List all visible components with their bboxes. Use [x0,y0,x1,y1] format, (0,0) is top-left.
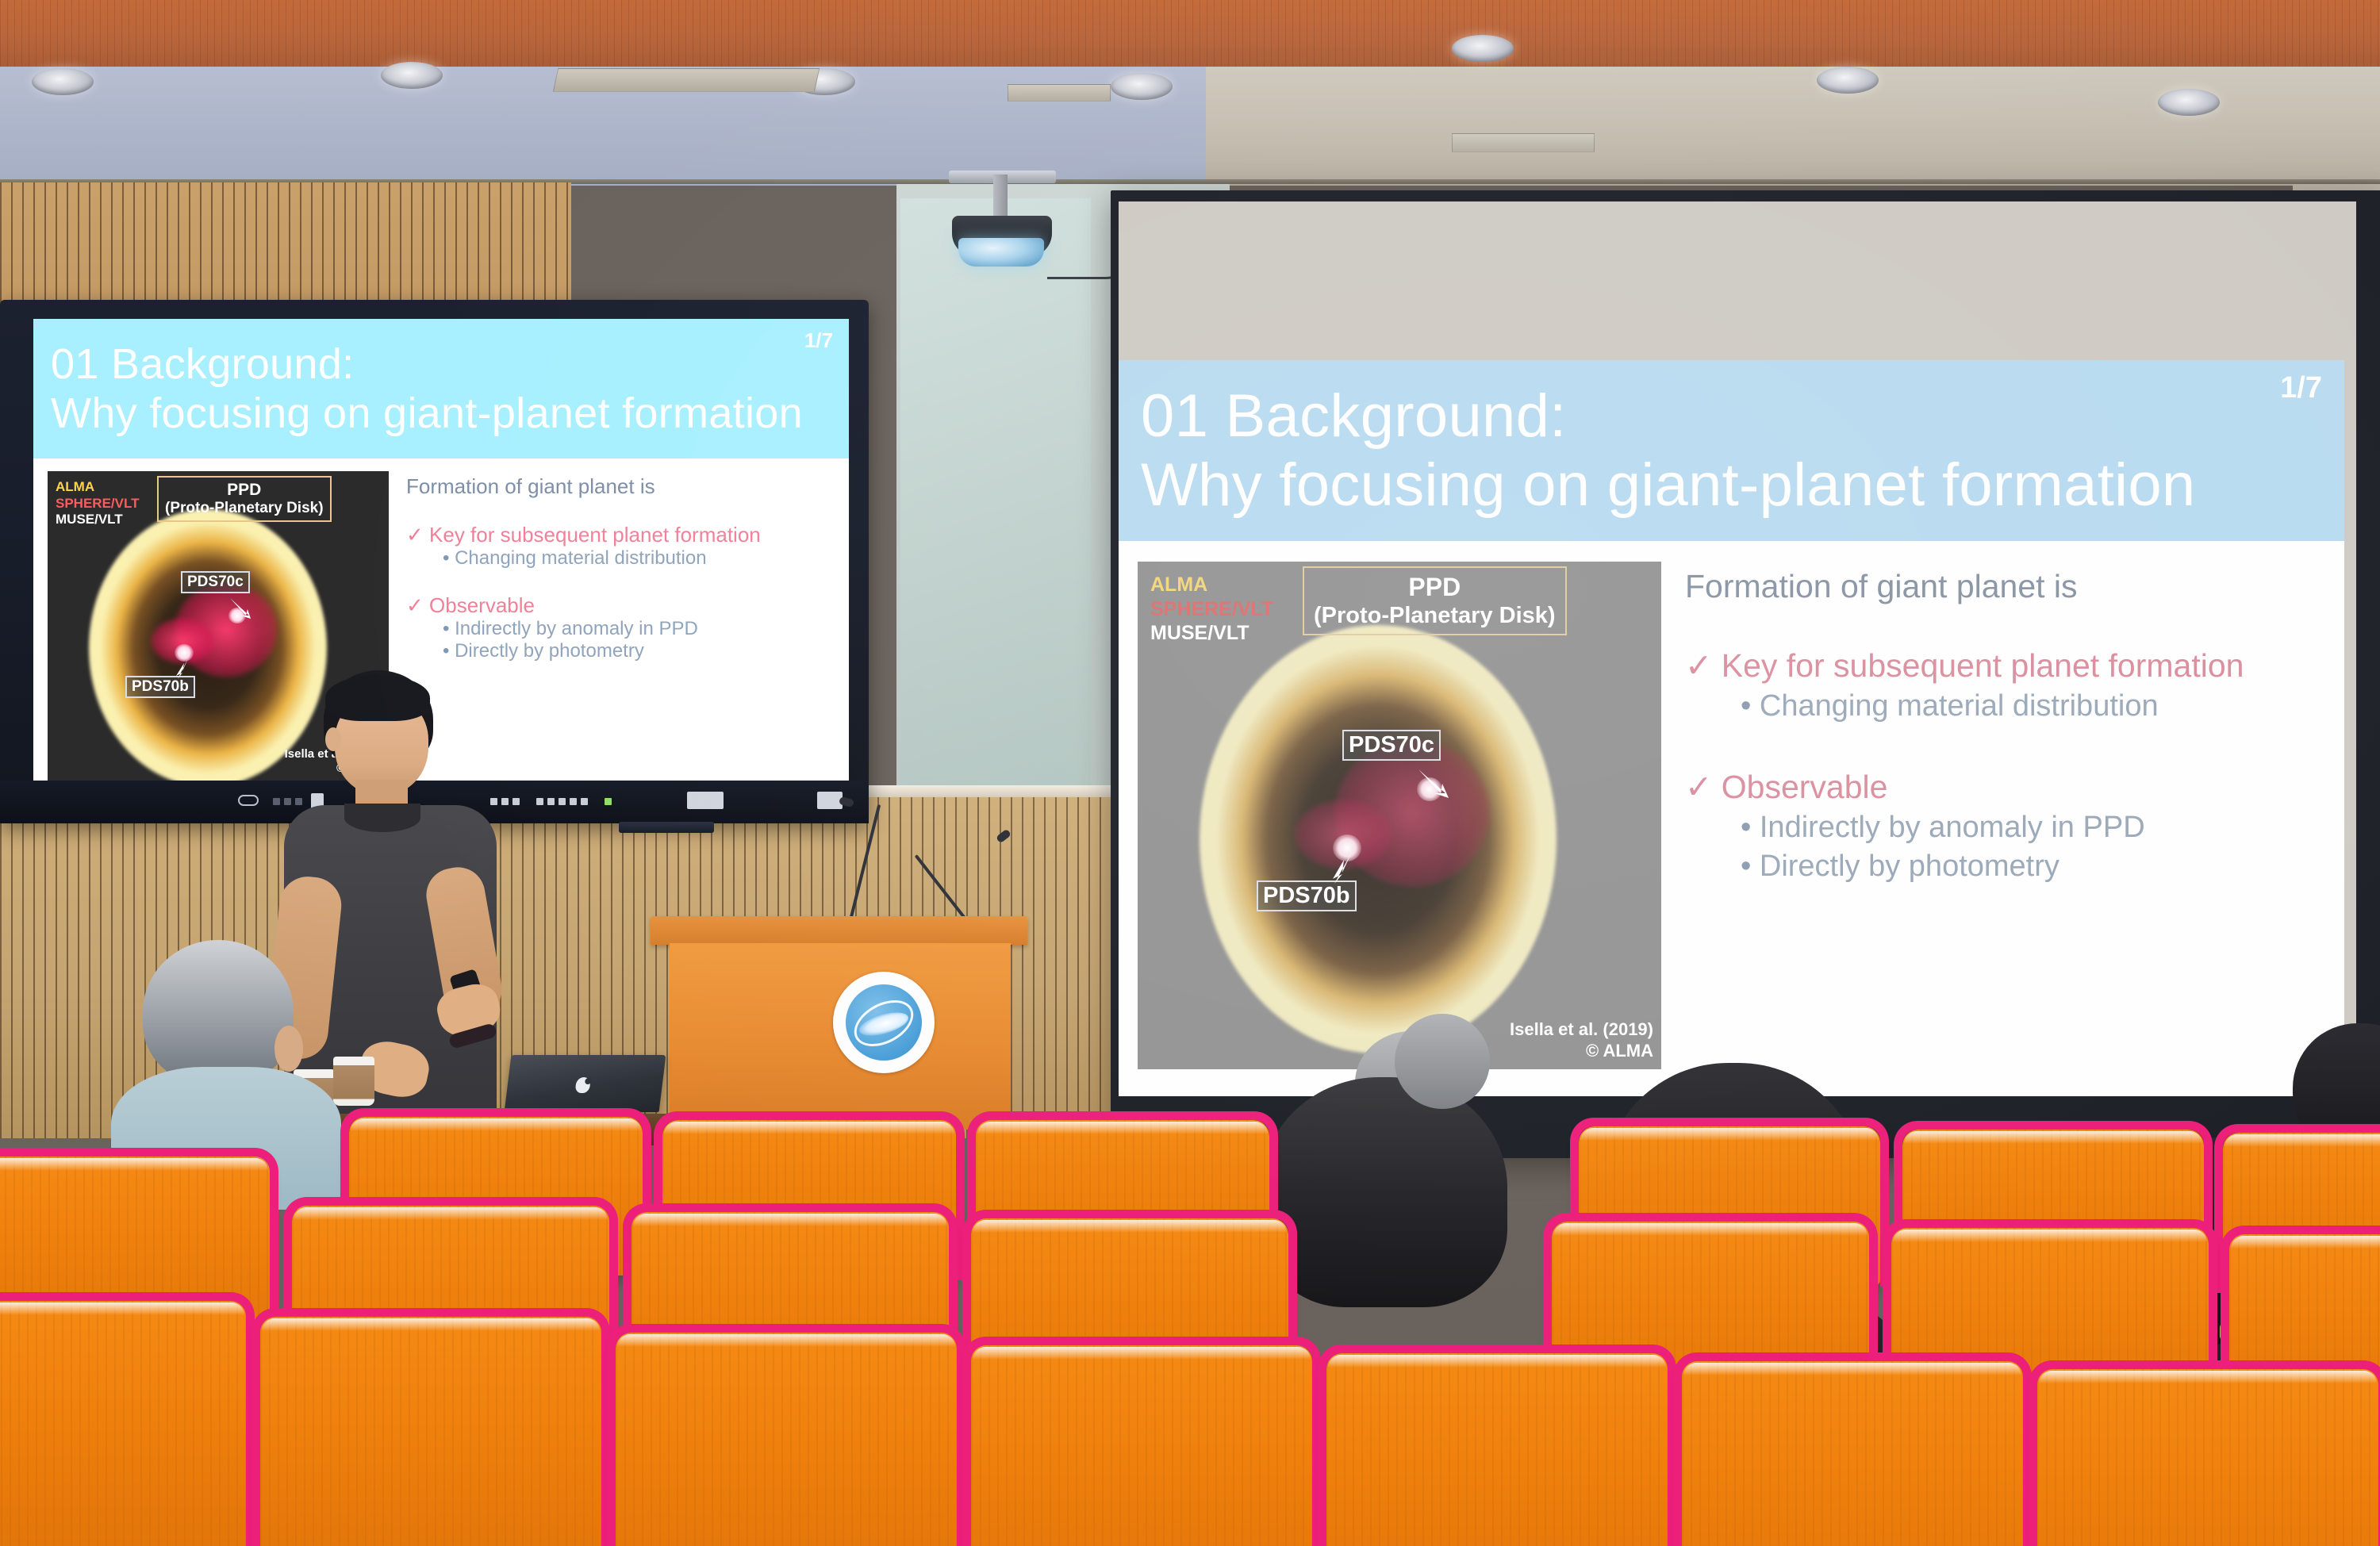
label-pds70c: PDS70c [181,571,250,593]
bullet-lead: Formation of giant planet is [406,474,841,499]
downlight-icon [381,62,443,89]
tv-power-led [605,798,612,805]
slide-bullets: Formation of giant planet is ✓ Key for s… [1661,562,2333,1096]
dot-icon: • [443,618,449,639]
dot-icon: • [1741,811,1751,844]
bullet-sub-2-2: • Directly by photometry [1685,850,2333,884]
ceiling-wood-band [0,0,2380,70]
arrow-icon [173,655,197,682]
power-icon[interactable] [238,795,259,806]
tv-logo-plate [687,792,724,809]
downlight-icon [1817,67,1879,94]
legend-sphere: SPHERE/VLT [1150,597,1273,622]
emblem-inner [846,984,922,1061]
ceiling-vent [553,68,820,92]
tv-button-group-2[interactable] [536,798,588,805]
audience-member-6 [1395,1014,1490,1133]
tv-button[interactable] [547,798,555,805]
check-icon: ✓ [406,523,424,547]
bullet-sub-2-1-text: Indirectly by anomaly in PPD [455,618,698,639]
check-icon: ✓ [1685,647,1712,684]
downlight-icon [32,68,94,95]
bullet-sub-1-1: • Changing material distribution [406,547,841,570]
seat[interactable] [260,1317,601,1546]
ceiling-panel-right [1206,67,2380,186]
bullet-sub-2-1-text: Indirectly by anomaly in PPD [1760,811,2145,844]
laptop[interactable] [505,1055,666,1112]
ppd-callout-box: PPD (Proto-Planetary Disk) [157,476,332,522]
power-led [605,798,612,805]
arrow-icon [1415,766,1455,801]
bullet-check-1-text: Key for subsequent planet formation [1722,647,2244,684]
bullet-sub-1-1-text: Changing material distribution [1760,689,2159,723]
label-pds70c: PDS70c [1342,730,1441,761]
legend-muse: MUSE/VLT [1150,621,1273,646]
seat[interactable] [1682,1361,2023,1546]
tv-button[interactable] [581,798,588,805]
downlight-icon [2158,89,2220,116]
figure-legend: ALMA SPHERE/VLT MUSE/VLT [56,479,139,528]
tv-button[interactable] [536,798,543,805]
credit-copyright: © ALMA [1510,1041,1653,1061]
ceiling-vent [1452,133,1595,152]
projector-mount-arm [993,175,1008,222]
slide-page-number: 1/7 [804,328,833,353]
slide-title-line1: 01 Background: [51,340,849,389]
kiaa-pku-emblem [833,972,935,1073]
ppd-callout-title: PPD [165,480,324,500]
credit-reference: Isella et al. (2019) [1510,1019,1653,1040]
bullet-check-2: ✓ Observable [406,593,841,618]
dot-icon: • [1741,850,1751,883]
seat[interactable] [0,1301,246,1546]
bullet-sub-2-2-text: Directly by photometry [455,640,644,662]
figure-credit: Isella et al. (2019) © ALMA [1510,1019,1653,1061]
presenter-ear [325,727,341,751]
ppd-callout-subtitle: (Proto-Planetary Disk) [165,500,324,518]
bullet-sub-2-1: • Indirectly by anomaly in PPD [406,618,841,640]
bullet-sub-2-1: • Indirectly by anomaly in PPD [1685,811,2333,845]
bullet-check-1-text: Key for subsequent planet formation [429,523,761,547]
bullet-sub-1-1: • Changing material distribution [1685,689,2333,723]
orbit-ring-icon [846,991,921,1056]
bullet-check-2-text: Observable [429,593,535,617]
mic-neck [915,854,971,925]
ppd-callout-title: PPD [1314,572,1556,602]
legend-alma: ALMA [56,479,139,496]
projection-screen-surface: 01 Background: Why focusing on giant-pla… [1119,201,2356,1096]
tv-button[interactable] [559,798,566,805]
ppd-figure: ALMA SPHERE/VLT MUSE/VLT PPD (Proto-Plan… [1138,562,1661,1069]
legend-alma: ALMA [1150,573,1273,597]
audience-head [1395,1014,1490,1109]
tv-button[interactable] [570,798,577,805]
seat[interactable] [2037,1369,2378,1546]
ppd-callout-box: PPD (Proto-Planetary Disk) [1303,566,1567,635]
projector-lens-icon [958,238,1044,267]
ceiling-vent [1008,84,1111,102]
slide-body: ALMA SPHERE/VLT MUSE/VLT PPD (Proto-Plan… [1119,550,2344,1096]
bullet-sub-2-2: • Directly by photometry [406,640,841,662]
slide-header: 01 Background: Why focusing on giant-pla… [1119,360,2344,541]
lecture-hall-scene: 01 Background: Why focusing on giant-pla… [0,0,2380,1546]
podium-top [651,916,1027,945]
legend-muse: MUSE/VLT [56,512,139,528]
figure-legend: ALMA SPHERE/VLT MUSE/VLT [1150,573,1273,646]
audience-hand [274,1026,303,1072]
seat[interactable] [971,1345,1312,1546]
slide-projected: 01 Background: Why focusing on giant-pla… [1119,360,2344,1096]
projection-screen[interactable]: 01 Background: Why focusing on giant-pla… [1111,190,2380,1158]
bullet-check-1: ✓ Key for subsequent planet formation [406,523,841,547]
bullet-check-2-text: Observable [1722,769,1888,805]
audience-member-1 [119,940,325,1178]
seat[interactable] [616,1333,957,1546]
presenter-collar [344,804,420,832]
slide-title-line1: 01 Background: [1141,382,2344,451]
arrow-icon [1328,849,1363,888]
check-icon: ✓ [406,593,424,617]
slide-page-number: 1/7 [2280,371,2322,405]
legend-sphere: SPHERE/VLT [56,496,139,512]
slide-header: 01 Background: Why focusing on giant-pla… [33,319,849,458]
apple-logo-icon [575,1077,591,1093]
dot-icon: • [443,547,449,569]
bullet-sub-1-1-text: Changing material distribution [455,547,707,569]
downlight-icon [1111,73,1173,100]
slide-title-line2: Why focusing on giant-planet formation [51,389,849,438]
dot-icon: • [443,640,449,662]
check-icon: ✓ [1685,769,1712,805]
bullet-check-1: ✓ Key for subsequent planet formation [1685,646,2333,685]
arrow-icon [228,597,255,620]
downlight-icon [1452,35,1514,62]
seat[interactable] [1326,1353,1668,1546]
projected-slide: 01 Background: Why focusing on giant-pla… [1119,360,2344,1096]
presenter-hair-front [325,675,430,721]
bullet-lead: Formation of giant planet is [1685,568,2333,605]
bullet-check-2: ✓ Observable [1685,768,2333,806]
dot-icon: • [1741,689,1751,723]
ppd-callout-subtitle: (Proto-Planetary Disk) [1314,602,1556,630]
audience-head [143,940,294,1084]
tv-mount [619,822,714,833]
slide-title-line2: Why focusing on giant-planet formation [1141,451,2344,520]
coffee-cup [333,1057,374,1106]
bullet-sub-2-2-text: Directly by photometry [1760,850,2059,883]
